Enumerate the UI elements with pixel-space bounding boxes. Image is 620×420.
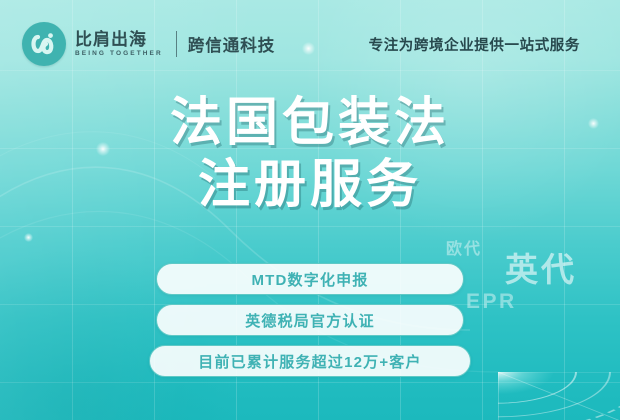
brand-name-cn: 比肩出海 <box>75 31 163 48</box>
feature-pill-mtd[interactable]: MTD数字化申报 <box>156 263 464 295</box>
brand-circle-logo-icon <box>22 22 66 66</box>
glow-dot <box>24 233 33 242</box>
watermark-ouday: 欧代 <box>446 235 482 259</box>
brand-name-en: BEING TOGETHER <box>75 51 163 58</box>
feature-pill-customers[interactable]: 目前已累计服务超过12万+客户 <box>149 345 471 377</box>
headline-line-2: 注册服务 <box>0 154 620 216</box>
header-tagline: 专注为跨境企业提供一站式服务 <box>369 34 598 55</box>
header-bar: 比肩出海 BEING TOGETHER 跨信通科技 专注为跨境企业提供一站式服务 <box>0 18 620 70</box>
promo-banner: 比肩出海 BEING TOGETHER 跨信通科技 专注为跨境企业提供一站式服务… <box>0 0 620 420</box>
brand-company-name: 跨信通科技 <box>188 32 276 56</box>
brand-lockup: 比肩出海 BEING TOGETHER <box>75 31 163 58</box>
feature-pill-list: MTD数字化申报 英德税局官方认证 目前已累计服务超过12万+客户 <box>0 263 620 377</box>
headline-line-1: 法国包装法 <box>170 94 450 152</box>
brand-divider <box>176 31 177 57</box>
feature-pill-certified[interactable]: 英德税局官方认证 <box>156 304 464 336</box>
headline: 法国包装法 注册服务 <box>0 92 620 216</box>
